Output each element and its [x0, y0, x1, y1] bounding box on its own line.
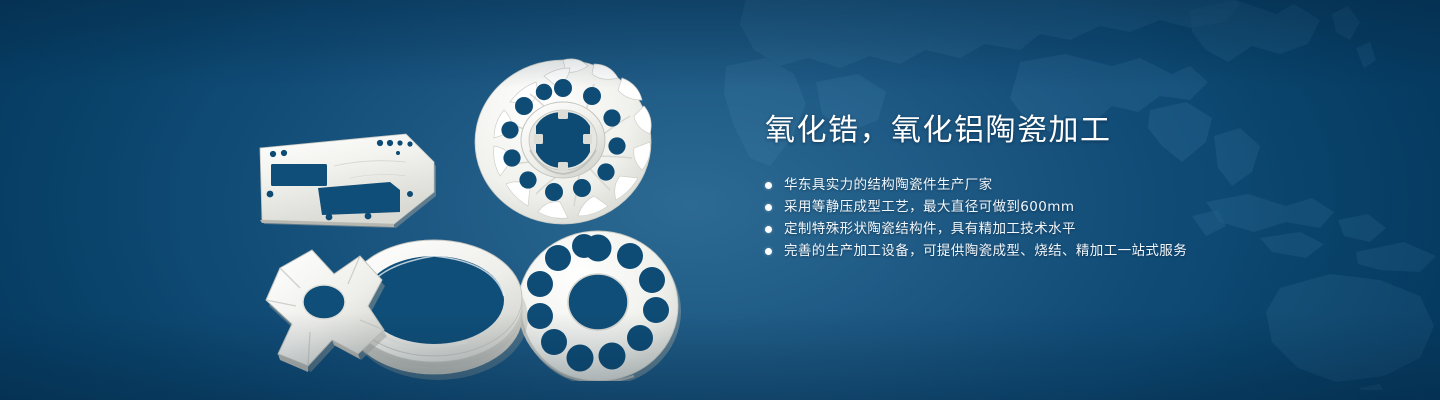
bullet-dot-icon — [765, 248, 772, 255]
bullet-dot-icon — [765, 226, 772, 233]
feature-text: 完善的生产加工设备，可提供陶瓷成型、烧结、精加工一站式服务 — [784, 240, 1187, 262]
bullet-dot-icon — [765, 204, 772, 211]
bullet-dot-icon — [765, 182, 772, 189]
feature-text: 采用等静压成型工艺，最大直径可做到600mm — [784, 196, 1074, 218]
feature-text: 定制特殊形状陶瓷结构件，具有精加工技术水平 — [784, 218, 1076, 240]
list-item: 完善的生产加工设备，可提供陶瓷成型、烧结、精加工一站式服务 — [765, 240, 1385, 262]
banner-copy: 氧化锆，氧化铝陶瓷加工 华东具实力的结构陶瓷件生产厂家 采用等静压成型工艺，最大… — [765, 110, 1385, 262]
feature-text: 华东具实力的结构陶瓷件生产厂家 — [784, 174, 993, 196]
list-item: 华东具实力的结构陶瓷件生产厂家 — [765, 174, 1385, 196]
list-item: 采用等静压成型工艺，最大直径可做到600mm — [765, 196, 1385, 218]
feature-list: 华东具实力的结构陶瓷件生产厂家 采用等静压成型工艺，最大直径可做到600mm 定… — [765, 174, 1385, 262]
banner-headline: 氧化锆，氧化铝陶瓷加工 — [765, 110, 1385, 152]
list-item: 定制特殊形状陶瓷结构件，具有精加工技术水平 — [765, 218, 1385, 240]
hero-banner: 氧化锆，氧化铝陶瓷加工 华东具实力的结构陶瓷件生产厂家 采用等静压成型工艺，最大… — [0, 0, 1440, 400]
